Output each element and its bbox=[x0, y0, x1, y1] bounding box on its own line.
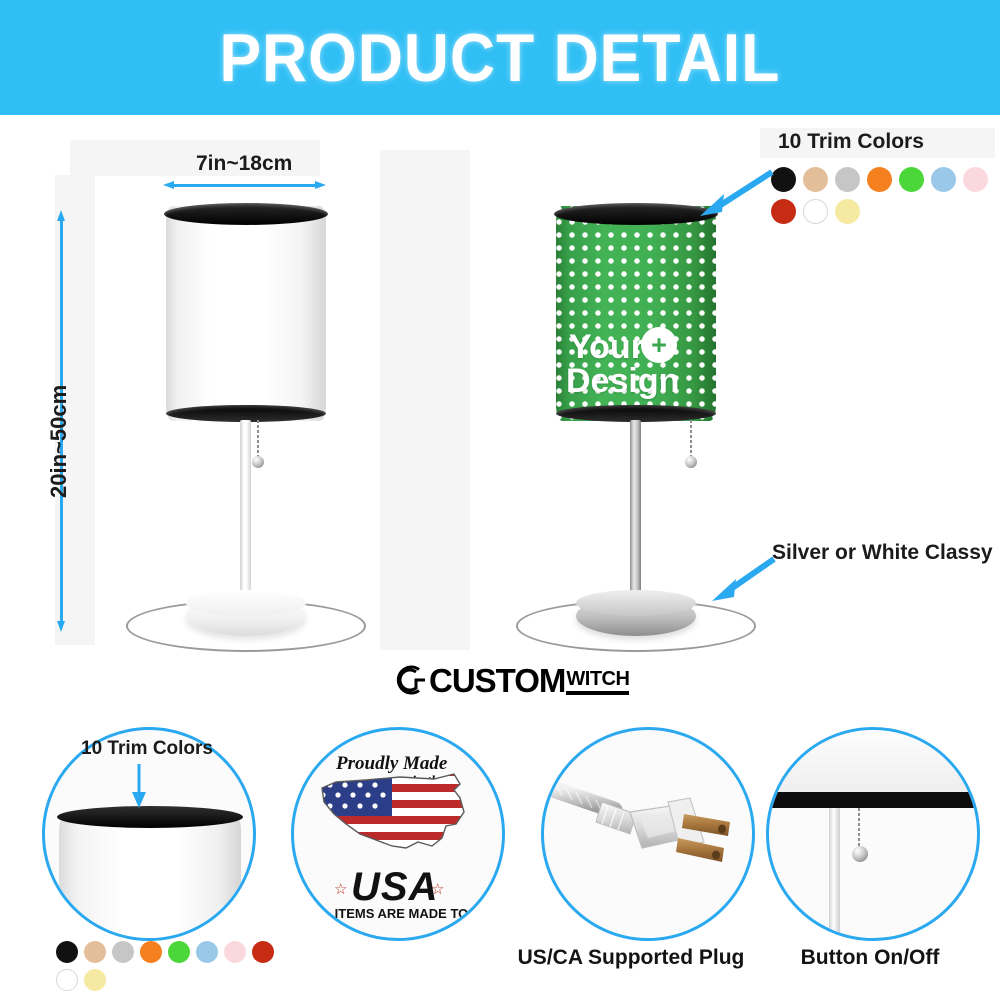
pull-chain[interactable] bbox=[257, 420, 259, 460]
design-line-1: Your bbox=[569, 330, 644, 364]
lamp-pole bbox=[240, 420, 251, 605]
trim-swatch-orange[interactable] bbox=[140, 941, 162, 963]
usa-star-right: ☆ bbox=[431, 880, 444, 898]
trim-color-swatches-top[interactable] bbox=[771, 167, 1000, 224]
trim-swatch-black[interactable] bbox=[56, 941, 78, 963]
trim-swatch-white[interactable] bbox=[803, 199, 828, 224]
width-arrow bbox=[163, 181, 326, 189]
logo-witch-block: WITCH bbox=[566, 669, 629, 697]
feature-caption-trim-colors: 10 Trim Colors bbox=[81, 738, 213, 760]
shade-bottom-closeup bbox=[769, 730, 977, 800]
lamp-pole bbox=[630, 420, 641, 605]
trim-swatch-pink[interactable] bbox=[963, 167, 988, 192]
design-line-2: Design bbox=[566, 364, 679, 398]
height-label: 20in~50cm bbox=[46, 385, 72, 498]
shade-trim-top bbox=[164, 203, 328, 225]
logo-c-icon bbox=[394, 663, 428, 697]
lamp-base-top bbox=[576, 590, 696, 616]
trim-swatch-orange[interactable] bbox=[867, 167, 892, 192]
page-header: PRODUCT DETAIL bbox=[0, 0, 1000, 115]
logo-custom-text: CUSTOM bbox=[429, 664, 565, 697]
trim-swatch-tan[interactable] bbox=[803, 167, 828, 192]
arrow-tip-right bbox=[315, 181, 326, 189]
pull-chain-closeup[interactable] bbox=[858, 808, 860, 850]
shade-surface bbox=[166, 206, 326, 421]
pull-chain-ball[interactable] bbox=[252, 456, 264, 468]
trim-swatch-gray[interactable] bbox=[112, 941, 134, 963]
product-detail-page: PRODUCT DETAIL 7in~18cm 20in~50cm bbox=[0, 0, 1000, 1000]
trim-swatch-green[interactable] bbox=[899, 167, 924, 192]
logo-underline bbox=[566, 691, 629, 695]
shade-trim-closeup bbox=[766, 792, 980, 808]
base-finish-label: Silver or White Classy bbox=[772, 541, 993, 565]
trim-swatch-dark-red[interactable] bbox=[252, 941, 274, 963]
trim-swatch-green[interactable] bbox=[168, 941, 190, 963]
feature-circle-plug bbox=[541, 727, 755, 941]
shade-closeup bbox=[59, 814, 241, 941]
trim-swatch-yellow[interactable] bbox=[835, 199, 860, 224]
trim-swatch-light-blue[interactable] bbox=[196, 941, 218, 963]
background-wash bbox=[380, 150, 470, 650]
feature-circle-button-onoff bbox=[766, 727, 980, 941]
arrow-tip-bottom bbox=[57, 621, 65, 632]
add-design-icon[interactable]: + bbox=[641, 327, 677, 363]
feature-circle-made-in-usa: Proudly Made in the bbox=[291, 727, 505, 941]
power-plug-icon bbox=[544, 730, 752, 938]
trim-swatch-tan[interactable] bbox=[84, 941, 106, 963]
usa-map-icon bbox=[314, 768, 484, 860]
width-label: 7in~18cm bbox=[196, 152, 292, 176]
trim-pointer-arrow bbox=[694, 168, 774, 218]
trim-swatch-white[interactable] bbox=[56, 969, 78, 991]
trim-colors-down-arrow bbox=[128, 762, 150, 810]
lamp-base-top bbox=[186, 590, 306, 616]
feature-caption-plug: US/CA Supported Plug bbox=[501, 946, 761, 970]
usa-title: USA bbox=[351, 865, 438, 910]
trim-swatch-gray[interactable] bbox=[835, 167, 860, 192]
trim-color-swatches-bottom[interactable] bbox=[56, 941, 276, 991]
usa-star-left: ☆ bbox=[334, 880, 347, 898]
shade-trim-closeup bbox=[57, 806, 243, 828]
base-finish-pointer-arrow bbox=[708, 555, 778, 603]
page-title: PRODUCT DETAIL bbox=[220, 24, 781, 92]
logo-witch-text: WITCH bbox=[566, 669, 629, 689]
pull-chain-ball-closeup[interactable] bbox=[852, 846, 868, 862]
trim-swatch-black[interactable] bbox=[771, 167, 796, 192]
lamp-pole-closeup bbox=[829, 808, 840, 938]
trim-swatch-yellow[interactable] bbox=[84, 969, 106, 991]
trim-swatch-pink[interactable] bbox=[224, 941, 246, 963]
trim-colors-caption-top: 10 Trim Colors bbox=[778, 130, 924, 154]
lamp-shade-white bbox=[166, 206, 326, 421]
pull-chain-ball[interactable] bbox=[685, 456, 697, 468]
trim-swatch-dark-red[interactable] bbox=[771, 199, 796, 224]
usa-subtitle: ALL ITEMS ARE MADE TO ORDER! bbox=[306, 906, 505, 921]
brand-logo: CUSTOM WITCH bbox=[394, 663, 629, 697]
feature-caption-button-onoff: Button On/Off bbox=[766, 946, 974, 970]
arrow-bar bbox=[172, 184, 317, 187]
trim-swatch-light-blue[interactable] bbox=[931, 167, 956, 192]
pull-chain[interactable] bbox=[690, 420, 692, 460]
plus-symbol: + bbox=[651, 330, 667, 361]
usa-badge: Proudly Made in the bbox=[294, 730, 502, 938]
